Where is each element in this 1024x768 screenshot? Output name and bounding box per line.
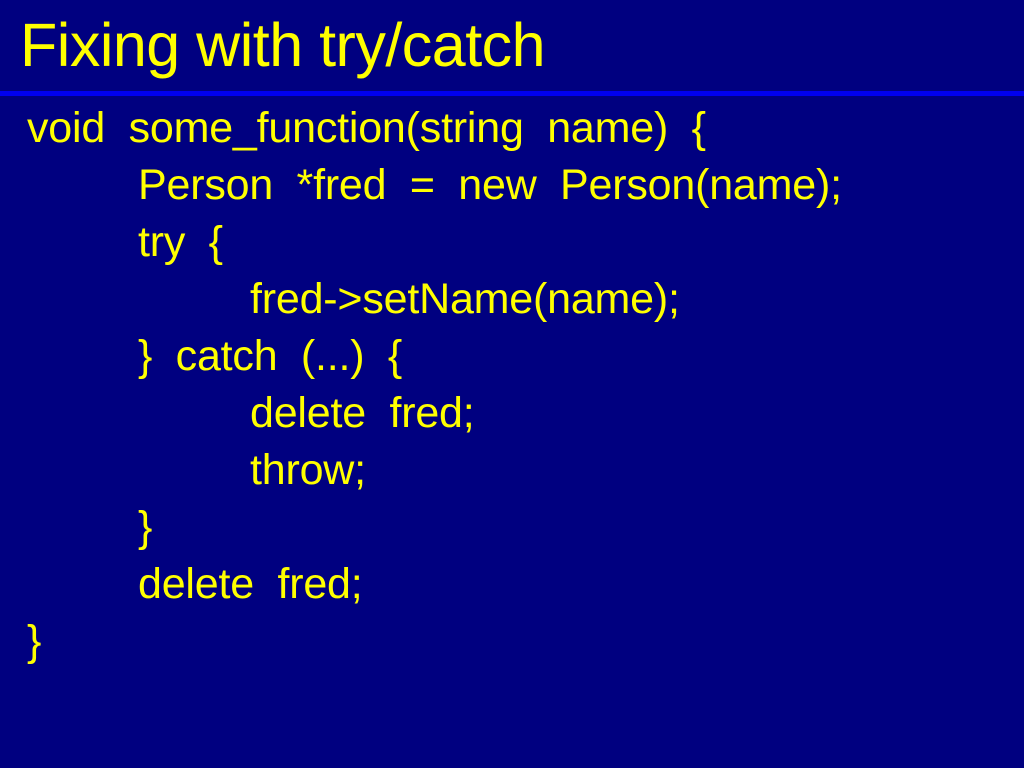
- code-line: } catch (...) {: [0, 328, 1024, 385]
- code-line: }: [0, 613, 1024, 670]
- code-line: fred->setName(name);: [0, 271, 1024, 328]
- presentation-slide: Fixing with try/catch void some_function…: [0, 0, 1024, 768]
- code-line: throw;: [0, 442, 1024, 499]
- title-divider: [0, 91, 1024, 96]
- code-line: delete fred;: [0, 385, 1024, 442]
- code-line: }: [0, 499, 1024, 556]
- code-block: void some_function(string name) { Person…: [0, 100, 1024, 760]
- code-line: try {: [0, 214, 1024, 271]
- code-line: void some_function(string name) {: [0, 100, 1024, 157]
- code-line: Person *fred = new Person(name);: [0, 157, 1024, 214]
- page-title: Fixing with try/catch: [20, 8, 1010, 86]
- code-line: delete fred;: [0, 556, 1024, 613]
